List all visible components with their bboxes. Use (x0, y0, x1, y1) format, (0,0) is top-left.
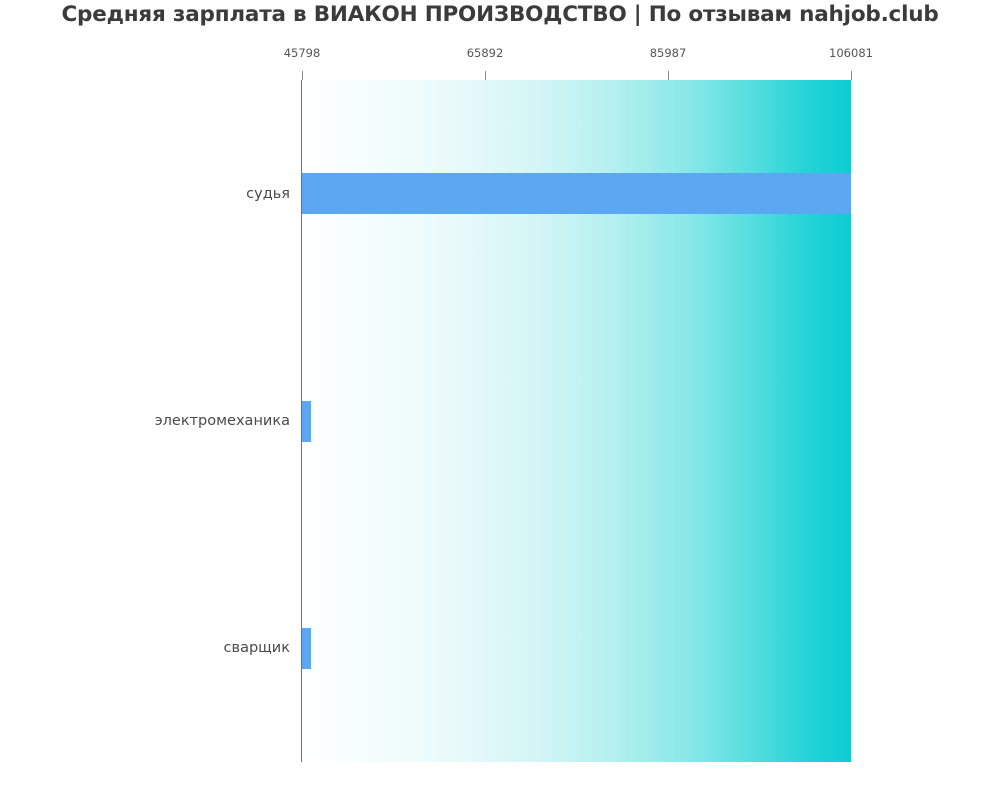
x-tick-mark (668, 71, 669, 80)
y-axis-spine (301, 80, 302, 762)
x-tick-label: 65892 (467, 46, 504, 60)
x-tick-mark (302, 71, 303, 80)
y-axis-labels: судьяэлектромеханикасварщик (0, 0, 290, 800)
salary-bar-chart: Средняя зарплата в ВИАКОН ПРОИЗВОДСТВО |… (0, 0, 1000, 800)
bar[interactable] (302, 173, 851, 214)
y-axis-category-label: судья (246, 186, 290, 202)
x-tick-mark (851, 71, 852, 80)
x-tick-mark (485, 71, 486, 80)
y-axis-category-label: электромеханика (155, 413, 290, 429)
plot-area (302, 80, 851, 762)
x-tick-label: 85987 (650, 46, 687, 60)
y-axis-category-label: сварщик (224, 640, 290, 656)
bar[interactable] (302, 628, 311, 669)
bar[interactable] (302, 401, 311, 442)
x-tick-label: 106081 (829, 46, 873, 60)
